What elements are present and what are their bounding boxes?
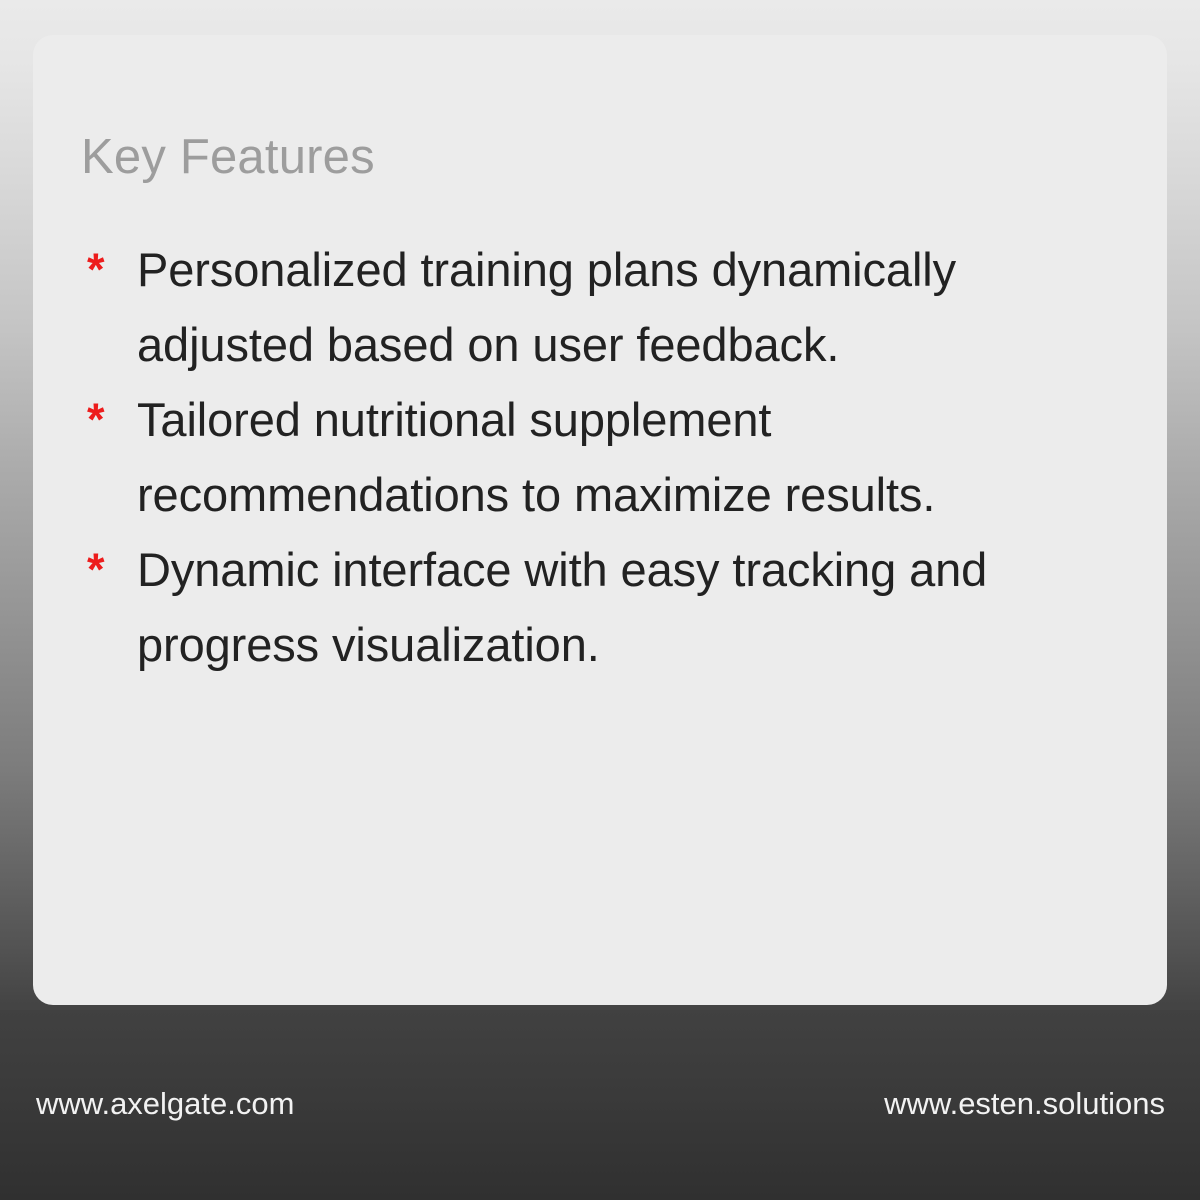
list-item: * Personalized training plans dynamicall… xyxy=(79,232,1139,382)
list-item-text: Dynamic interface with easy tracking and… xyxy=(137,532,1139,682)
asterisk-bullet-icon: * xyxy=(87,382,127,457)
page-title: Key Features xyxy=(81,133,375,182)
list-item: * Tailored nutritional supplement recomm… xyxy=(79,382,1139,532)
asterisk-bullet-icon: * xyxy=(87,232,127,307)
footer-url-left[interactable]: www.axelgate.com xyxy=(36,1088,294,1119)
list-item: * Dynamic interface with easy tracking a… xyxy=(79,532,1139,682)
list-item-text: Tailored nutritional supplement recommen… xyxy=(137,382,1139,532)
slide-canvas: Key Features * Personalized training pla… xyxy=(0,0,1200,1200)
footer-bar: www.axelgate.com www.esten.solutions xyxy=(0,1010,1200,1200)
list-item-text: Personalized training plans dynamically … xyxy=(137,232,1139,382)
content-card: Key Features * Personalized training pla… xyxy=(33,35,1167,1005)
key-features-list: * Personalized training plans dynamicall… xyxy=(79,232,1139,682)
footer-url-right[interactable]: www.esten.solutions xyxy=(884,1088,1165,1119)
asterisk-bullet-icon: * xyxy=(87,532,127,607)
